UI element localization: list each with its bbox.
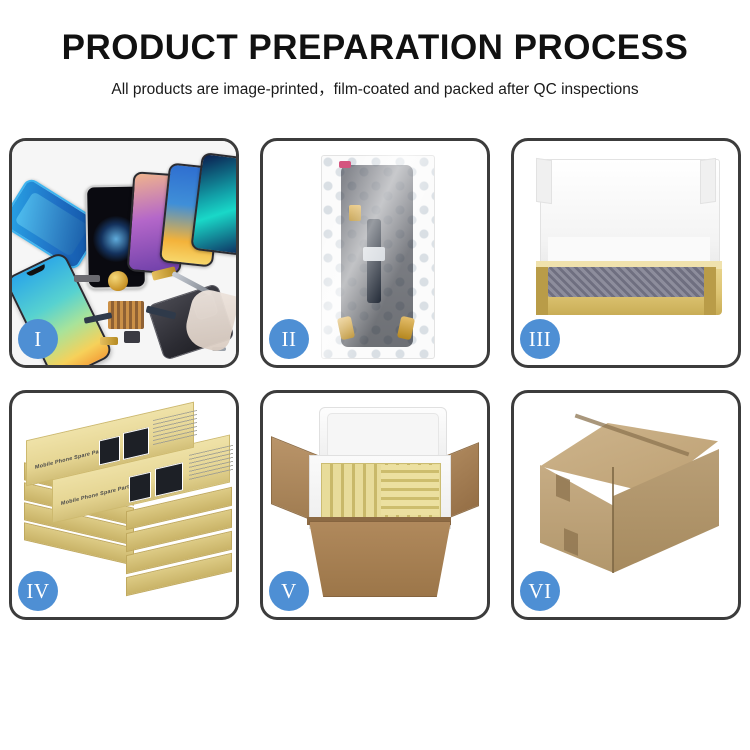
camera-module-part bbox=[124, 331, 140, 343]
lcd-connector bbox=[363, 247, 385, 261]
step-badge-3: III bbox=[520, 319, 560, 359]
gold-flex-part-2 bbox=[100, 337, 118, 345]
step-panel-2[interactable]: II bbox=[260, 138, 490, 368]
retail-box-label-front: Mobile Phone Spare Parts bbox=[61, 483, 132, 507]
retail-box-spec-lines-front bbox=[189, 445, 233, 481]
step-badge-6: VI bbox=[520, 571, 560, 611]
retail-box-label-top: Mobile Phone Spare Parts bbox=[35, 447, 106, 471]
step-badge-4: IV bbox=[18, 571, 58, 611]
battery-connector-part bbox=[74, 275, 100, 282]
pink-label-sticker bbox=[339, 161, 351, 168]
speaker-module-part bbox=[108, 271, 128, 291]
grey-foam-padding bbox=[548, 267, 710, 297]
step-panel-6[interactable]: VI bbox=[511, 390, 741, 620]
retail-box-screen-img-front-2 bbox=[155, 462, 183, 496]
retail-box-stack: Mobile Phone Spare Parts Mobile Phone Sp… bbox=[22, 415, 232, 605]
retail-box-spec-lines-top bbox=[153, 410, 197, 446]
lcd-flex-cable bbox=[367, 219, 381, 303]
foam-box-lid-inner bbox=[327, 413, 439, 459]
box-lid-tab-right bbox=[700, 158, 716, 204]
page-title: PRODUCT PREPARATION PROCESS bbox=[0, 30, 750, 65]
page-header: PRODUCT PREPARATION PROCESS All products… bbox=[0, 0, 750, 99]
step-badge-5: V bbox=[269, 571, 309, 611]
tray-edge-left bbox=[536, 267, 548, 315]
step-badge-2: II bbox=[269, 319, 309, 359]
step-panel-4[interactable]: Mobile Phone Spare Parts Mobile Phone Sp… bbox=[9, 390, 239, 620]
box-lid-tab-left bbox=[536, 158, 552, 204]
carton-vertical-edge bbox=[612, 467, 614, 573]
retail-box-screen-img-top-1 bbox=[99, 436, 120, 466]
logic-board-part bbox=[108, 301, 144, 329]
process-steps-grid: I II III bbox=[9, 138, 741, 620]
step-panel-1[interactable]: I bbox=[9, 138, 239, 368]
carton-front-panel bbox=[309, 521, 451, 597]
step-badge-1: I bbox=[18, 319, 58, 359]
retail-box-screen-img-top-2 bbox=[123, 427, 149, 460]
retail-box-screen-img-front-1 bbox=[129, 472, 151, 503]
step-panel-3[interactable]: III bbox=[511, 138, 741, 368]
tray-edge-right bbox=[704, 267, 716, 315]
page-subtitle: All products are image-printed，film-coat… bbox=[0, 77, 750, 99]
gold-contact-top bbox=[349, 205, 361, 221]
step-panel-5[interactable]: V bbox=[260, 390, 490, 620]
packed-yellow-boxes-secondary bbox=[381, 465, 439, 515]
